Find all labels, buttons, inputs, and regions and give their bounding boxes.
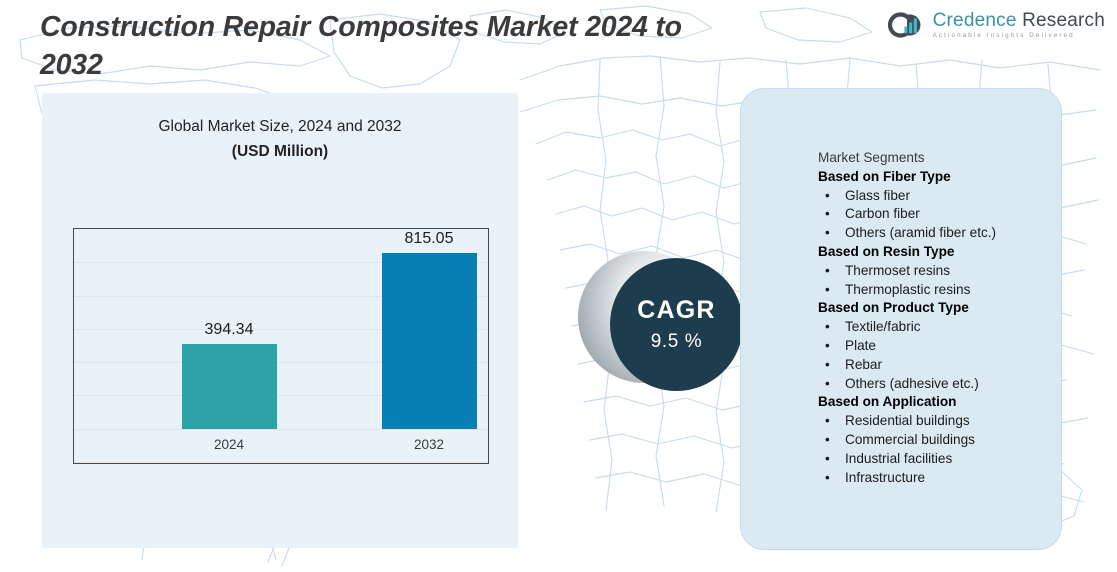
bullet-icon: • bbox=[818, 431, 845, 450]
segment-item-label: Glass fiber bbox=[845, 187, 1068, 206]
brand-name-secondary: Research bbox=[1022, 10, 1105, 31]
segment-item-label: Others (adhesive etc.) bbox=[845, 375, 1068, 394]
cagr-label: CAGR bbox=[637, 298, 715, 323]
infographic-canvas: Construction Repair Composites Market 20… bbox=[0, 0, 1117, 572]
segment-list-item[interactable]: •Others (aramid fiber etc.) bbox=[818, 224, 1068, 243]
bullet-icon: • bbox=[818, 281, 845, 300]
segment-list-item[interactable]: •Thermoplastic resins bbox=[818, 281, 1068, 300]
segment-item-label: Infrastructure bbox=[845, 469, 1068, 488]
bar-category-label: 2032 bbox=[414, 437, 444, 452]
chart-title: Global Market Size, 2024 and 2032 (USD M… bbox=[50, 114, 510, 164]
segment-list-item[interactable]: •Residential buildings bbox=[818, 412, 1068, 431]
brand-tagline: Actionable Insights Delivered bbox=[933, 33, 1105, 39]
bullet-icon: • bbox=[818, 224, 845, 243]
cagr-badge: CAGR 9.5 % bbox=[610, 258, 743, 391]
chart-title-main: Global Market Size, 2024 and 2032 bbox=[159, 118, 402, 135]
segment-item-label: Residential buildings bbox=[845, 412, 1068, 431]
segment-item-label: Others (aramid fiber etc.) bbox=[845, 224, 1068, 243]
circular-bar-chart-logo-icon bbox=[888, 6, 926, 44]
page-title: Construction Repair Composites Market 20… bbox=[40, 8, 870, 84]
segment-list-item[interactable]: •Thermoset resins bbox=[818, 262, 1068, 281]
segment-list-item[interactable]: •Carbon fiber bbox=[818, 205, 1068, 224]
chart-bars: 394.342024815.052032 bbox=[74, 229, 488, 463]
segment-item-label: Rebar bbox=[845, 356, 1068, 375]
segment-item-label: Thermoplastic resins bbox=[845, 281, 1068, 300]
bar-group: 815.052032 bbox=[382, 253, 477, 429]
bullet-icon: • bbox=[818, 205, 845, 224]
bullet-icon: • bbox=[818, 469, 845, 488]
segment-list-item[interactable]: •Others (adhesive etc.) bbox=[818, 375, 1068, 394]
segment-group-heading: Based on Fiber Type bbox=[818, 168, 1068, 187]
segment-item-label: Carbon fiber bbox=[845, 205, 1068, 224]
bar-value-label: 815.05 bbox=[405, 230, 454, 248]
brand-logo-text: Credence Research Actionable Insights De… bbox=[933, 11, 1105, 39]
segment-list-item[interactable]: •Commercial buildings bbox=[818, 431, 1068, 450]
bar-value-label: 394.34 bbox=[205, 321, 254, 339]
segment-list-item[interactable]: •Plate bbox=[818, 337, 1068, 356]
segment-item-label: Plate bbox=[845, 337, 1068, 356]
market-segments-heading: Market Segments bbox=[818, 149, 1068, 168]
market-segments-list: Market Segments Based on Fiber Type•Glas… bbox=[818, 149, 1068, 487]
brand-name-primary: Credence bbox=[933, 10, 1017, 31]
bar-2032[interactable] bbox=[382, 253, 477, 429]
segment-item-label: Commercial buildings bbox=[845, 431, 1068, 450]
bullet-icon: • bbox=[818, 450, 845, 469]
bullet-icon: • bbox=[818, 187, 845, 206]
segment-list-item[interactable]: •Industrial facilities bbox=[818, 450, 1068, 469]
brand-logo: Credence Research Actionable Insights De… bbox=[888, 4, 1105, 46]
bar-chart-plot-area: 394.342024815.052032 bbox=[73, 228, 489, 464]
segment-group-heading: Based on Application bbox=[818, 393, 1068, 412]
bullet-icon: • bbox=[818, 375, 845, 394]
segment-list-item[interactable]: •Rebar bbox=[818, 356, 1068, 375]
segment-list-item[interactable]: •Textile/fabric bbox=[818, 318, 1068, 337]
brand-name: Credence Research bbox=[933, 11, 1105, 30]
cagr-value: 9.5 % bbox=[651, 332, 703, 351]
segment-group-heading: Based on Resin Type bbox=[818, 243, 1068, 262]
bar-2024[interactable] bbox=[182, 344, 277, 429]
bullet-icon: • bbox=[818, 356, 845, 375]
bar-group: 394.342024 bbox=[182, 344, 277, 429]
bullet-icon: • bbox=[818, 318, 845, 337]
segment-item-label: Thermoset resins bbox=[845, 262, 1068, 281]
bullet-icon: • bbox=[818, 337, 845, 356]
segment-list-item[interactable]: •Infrastructure bbox=[818, 469, 1068, 488]
segment-group-heading: Based on Product Type bbox=[818, 299, 1068, 318]
segment-list-item[interactable]: •Glass fiber bbox=[818, 187, 1068, 206]
bullet-icon: • bbox=[818, 412, 845, 431]
segment-item-label: Textile/fabric bbox=[845, 318, 1068, 337]
bar-category-label: 2024 bbox=[214, 437, 244, 452]
segment-item-label: Industrial facilities bbox=[845, 450, 1068, 469]
bullet-icon: • bbox=[818, 262, 845, 281]
chart-title-units: (USD Million) bbox=[50, 139, 510, 164]
